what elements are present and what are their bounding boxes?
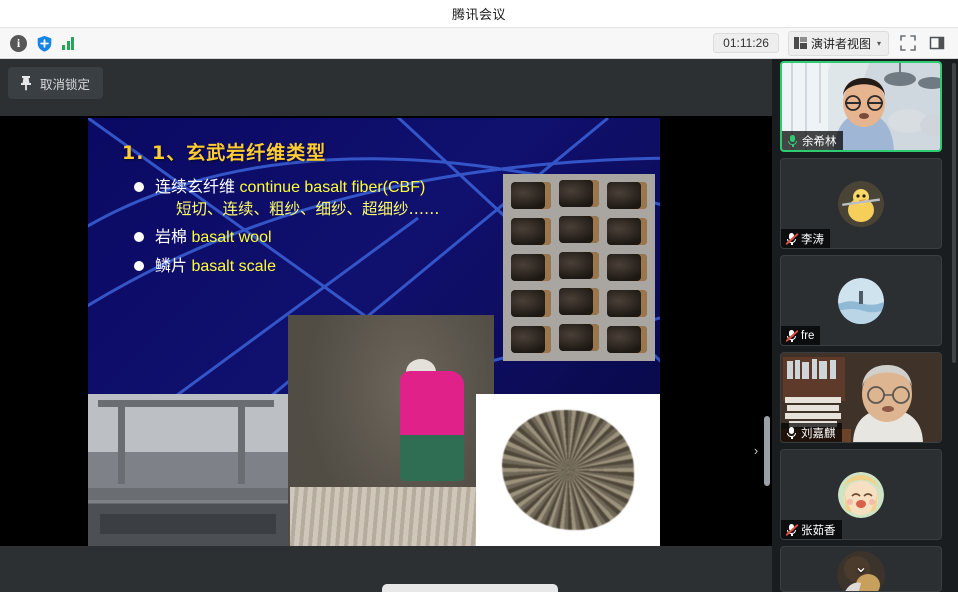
participant-name-0: 余希林 (802, 133, 837, 149)
layout-icon (794, 37, 807, 49)
bullet-3-cn: 鳞片 (155, 256, 187, 275)
participant-name-1: 李涛 (801, 231, 824, 247)
chevron-down-icon[interactable]: ⌄ (854, 557, 867, 577)
bullet-3-en: basalt scale (191, 258, 276, 275)
network-signal-icon[interactable] (61, 34, 80, 53)
furnace-line-photo (88, 394, 288, 546)
info-icon[interactable]: i (9, 34, 28, 53)
participant-tile-4[interactable]: 张茹香 (780, 449, 942, 540)
participant-name-chip-1: 李涛 (781, 229, 830, 248)
window-title: 腾讯会议 (452, 4, 506, 23)
view-mode-selector[interactable]: 演讲者视图 ▾ (788, 31, 889, 56)
mic-muted-icon (785, 232, 798, 246)
worker-basalt-mat-photo (288, 315, 494, 546)
slide-title: 1. 1、玄武岩纤维类型 (122, 138, 326, 165)
participant-tile-3[interactable]: 刘嘉麒 (780, 352, 942, 443)
tencent-meeting-window: 腾讯会议 i 01:11:26 演讲者视图 (0, 0, 958, 592)
bullet-2-cn: 岩棉 (155, 227, 187, 246)
participant-tile-2[interactable]: fre (780, 255, 942, 346)
participant-name-2: fre (801, 330, 814, 342)
toggle-sidebar-icon[interactable] (927, 33, 947, 53)
mic-muted-icon (785, 329, 798, 343)
participant-tile-1[interactable]: 李涛 (780, 158, 942, 249)
stage-scrollbar[interactable] (764, 416, 770, 486)
bullet-dot-icon (134, 261, 144, 271)
meeting-toolbar: i 01:11:26 演讲者视图 ▾ (0, 28, 958, 59)
meeting-timer: 01:11:26 (713, 33, 779, 53)
unpin-button[interactable]: 取消锁定 (8, 67, 103, 99)
mic-on-icon (786, 134, 799, 148)
expand-panel-chevron-right-icon[interactable]: › (748, 438, 764, 462)
fiber-spools-photo (503, 174, 655, 361)
bullet-2-en: basalt wool (191, 229, 271, 246)
presentation-slide: 1. 1、玄武岩纤维类型 连续玄纤维 continue basalt fiber… (88, 118, 660, 546)
participant-name-chip-3: 刘嘉麒 (781, 423, 842, 442)
shared-screen-stage[interactable]: 1. 1、玄武岩纤维类型 连续玄纤维 continue basalt fiber… (0, 116, 772, 546)
basalt-chopped-chips-photo (476, 394, 660, 546)
view-mode-label: 演讲者视图 (811, 35, 871, 52)
participant-name-chip-2: fre (781, 326, 820, 345)
chevron-down-icon: ▾ (877, 39, 881, 48)
mic-on-icon (785, 426, 798, 440)
participant-name-3: 刘嘉麒 (801, 425, 836, 441)
participant-name-chip-4: 张茹香 (781, 520, 842, 539)
bullet-1-cn: 连续玄纤维 (155, 177, 235, 196)
fullscreen-icon[interactable] (898, 33, 918, 53)
stage-top-strip (0, 59, 772, 116)
toolbar-right-group: 01:11:26 演讲者视图 ▾ (713, 31, 958, 56)
participant-name-chip-0: 余希林 (782, 131, 843, 150)
participant-name-4: 张茹香 (801, 522, 836, 538)
hidden-controls-handle[interactable] (382, 584, 558, 592)
toolbar-left-group: i (0, 34, 80, 53)
window-titlebar: 腾讯会议 (0, 0, 958, 28)
bullet-1-sub: 短切、连续、粗纱、细纱、超细纱…… (176, 200, 440, 218)
bullet-dot-icon (134, 182, 144, 192)
bullet-dot-icon (134, 232, 144, 242)
pin-icon (19, 75, 33, 91)
unpin-label: 取消锁定 (40, 74, 90, 93)
participant-tile-5[interactable]: ⌄ (780, 546, 942, 592)
bullet-1-en: continue basalt fiber(CBF) (239, 179, 425, 196)
participant-tile-0[interactable]: 余希林 (780, 61, 942, 152)
shield-icon[interactable] (35, 34, 54, 53)
participants-scrollbar[interactable] (952, 63, 956, 363)
mic-muted-icon (785, 523, 798, 537)
participants-panel: 余希林 (772, 59, 958, 592)
